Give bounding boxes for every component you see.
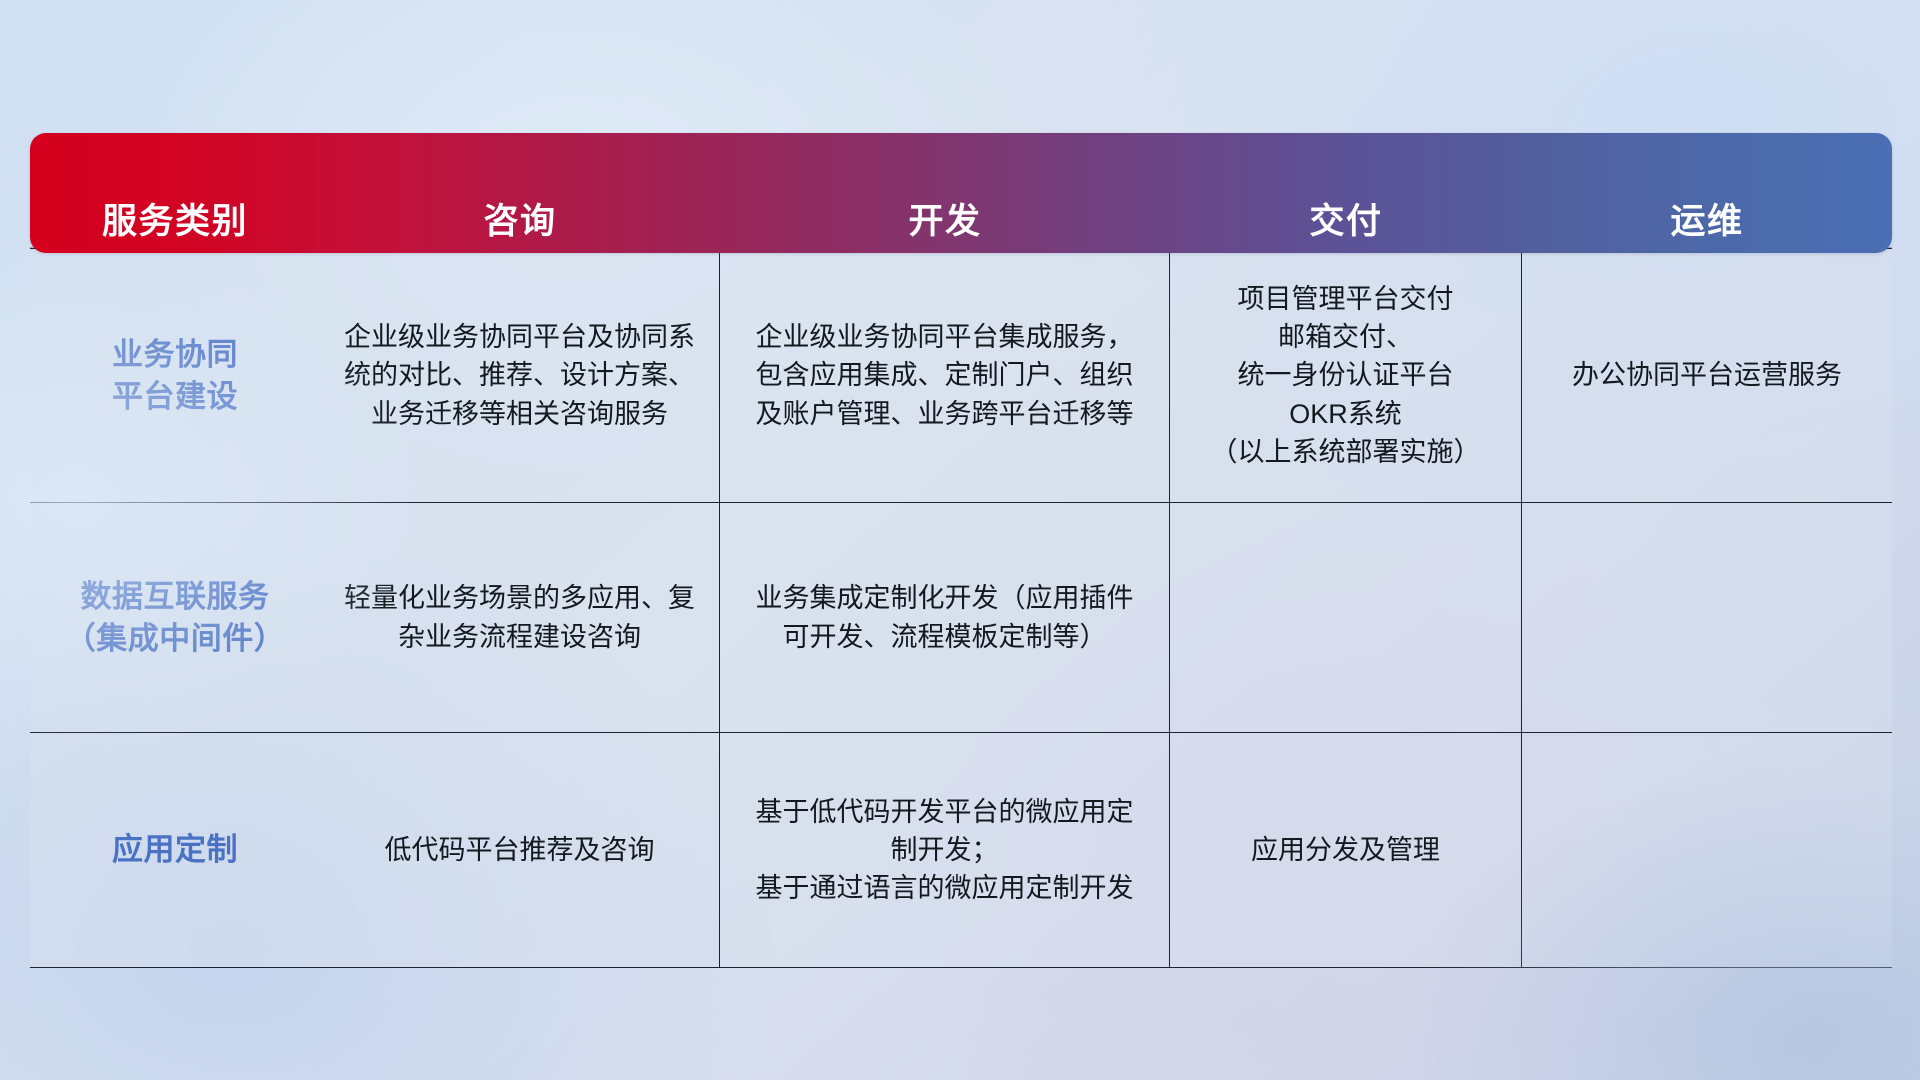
column-header-development: 开发: [720, 203, 1170, 242]
cell-development: 企业级业务协同平台集成服务， 包含应用集成、定制门户、组织 及账户管理、业务跨平…: [720, 249, 1170, 502]
service-category-table: 服务类别 咨询 开发 交付 运维 业务协同 平台建设 企业级业务协同平台及协同系…: [30, 133, 1892, 963]
column-header-category: 服务类别: [30, 203, 320, 242]
cell-development: 业务集成定制化开发（应用插件 可开发、流程模板定制等）: [720, 503, 1170, 732]
row-category-label: 数据互联服务 （集成中间件）: [30, 503, 320, 732]
cell-operations: [1522, 733, 1892, 967]
cell-delivery: 应用分发及管理: [1170, 733, 1522, 967]
table-header-row: 服务类别 咨询 开发 交付 运维: [30, 133, 1892, 253]
table-row: 业务协同 平台建设 企业级业务协同平台及协同系 统的对比、推荐、设计方案、 业务…: [30, 248, 1892, 503]
cell-consulting: 企业级业务协同平台及协同系 统的对比、推荐、设计方案、 业务迁移等相关咨询服务: [320, 249, 720, 502]
cell-operations: 办公协同平台运营服务: [1522, 249, 1892, 502]
column-header-delivery: 交付: [1170, 203, 1522, 242]
table-row: 数据互联服务 （集成中间件） 轻量化业务场景的多应用、复 杂业务流程建设咨询 业…: [30, 503, 1892, 733]
cell-development: 基于低代码开发平台的微应用定 制开发； 基于通过语言的微应用定制开发: [720, 733, 1170, 967]
column-header-consulting: 咨询: [320, 203, 720, 242]
table-body: 业务协同 平台建设 企业级业务协同平台及协同系 统的对比、推荐、设计方案、 业务…: [30, 247, 1892, 968]
cell-delivery: 项目管理平台交付 邮箱交付、 统一身份认证平台 OKR系统 （以上系统部署实施）: [1170, 249, 1522, 502]
cell-consulting: 轻量化业务场景的多应用、复 杂业务流程建设咨询: [320, 503, 720, 732]
cell-delivery: [1170, 503, 1522, 732]
cell-operations: [1522, 503, 1892, 732]
column-header-operations: 运维: [1522, 203, 1892, 242]
row-category-label: 业务协同 平台建设: [30, 249, 320, 502]
cell-consulting: 低代码平台推荐及咨询: [320, 733, 720, 967]
table-row: 应用定制 低代码平台推荐及咨询 基于低代码开发平台的微应用定 制开发； 基于通过…: [30, 733, 1892, 968]
row-category-label: 应用定制: [30, 733, 320, 967]
